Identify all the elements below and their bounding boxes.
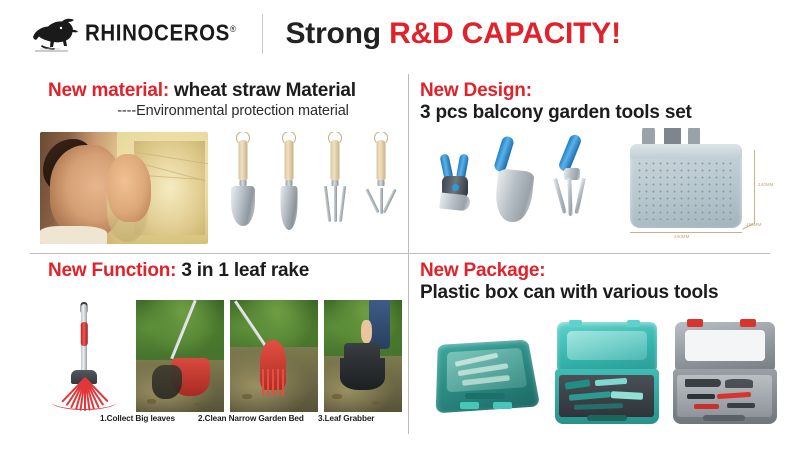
case-lid-inner	[567, 331, 647, 359]
cultivator-prong	[574, 178, 585, 214]
panel-subheading-new-package: Plastic box can with various tools	[420, 282, 780, 303]
cultivator-prong	[365, 189, 379, 214]
brand-logo: RHINOCEROS®	[30, 14, 236, 54]
tool-in-tray	[595, 378, 628, 386]
header-divider	[262, 14, 263, 54]
rake-arc	[51, 393, 118, 410]
fallen-leaf	[292, 401, 301, 406]
trowel-handle	[493, 135, 515, 173]
dimension-line-width	[630, 232, 742, 233]
case-handle	[587, 415, 626, 422]
person-hand	[361, 320, 372, 342]
cultivator-prong	[567, 178, 572, 216]
caption-collect-big-leaves: 1.Collect Big leaves	[100, 414, 175, 423]
dimension-label-depth: 160MM	[746, 222, 762, 227]
fork-tine	[334, 186, 337, 222]
case-lid-panel	[685, 330, 765, 360]
person-shirt	[40, 226, 107, 244]
capability-slide: RHINOCEROS® Strong R&D CAPACITY! New mat…	[0, 0, 800, 450]
brand-name-text: RHINOCEROS	[85, 21, 230, 47]
case-latch	[493, 402, 512, 410]
blue-cultivator	[548, 134, 602, 232]
registered-mark: ®	[230, 24, 237, 34]
teal-closed-case	[428, 318, 544, 428]
tool-in-tray	[694, 404, 719, 409]
fallen-leaf	[332, 394, 342, 399]
tool-in-tray	[727, 403, 756, 408]
heading-dark-new-function: 3 in 1 leaf rake	[176, 260, 309, 281]
panel-heading-new-package: New Package:	[420, 260, 780, 281]
narrow-rake-tines	[262, 369, 285, 396]
case-latch	[687, 319, 703, 327]
dimension-label-width: 240MM	[674, 234, 690, 239]
dimension-label-height: 240MM	[758, 182, 774, 187]
case-tool-tray	[559, 375, 654, 417]
basket-perforations	[636, 160, 736, 220]
panel-subheading-new-design: 3 pcs balcony garden tools set	[420, 102, 780, 123]
fork-tine	[339, 186, 346, 222]
tool-trowel	[226, 140, 260, 236]
panel-subheading-new-material: ----Environmental protection material	[64, 103, 402, 119]
rake-pole-red-section	[81, 322, 88, 346]
basket-rim	[630, 144, 742, 159]
blue-trowel	[490, 136, 540, 232]
wheat-field-photo	[40, 132, 208, 244]
case-latch	[460, 402, 479, 410]
person-hand	[107, 154, 151, 221]
fallen-leaf	[194, 403, 202, 407]
tool-in-tray	[574, 403, 624, 410]
metal-ferrule	[378, 180, 385, 186]
function-captions: 1.Collect Big leaves 2.Clean Narrow Gard…	[30, 414, 402, 430]
heading-red-new-package: New Package:	[420, 260, 545, 281]
rake-fan-head	[46, 378, 122, 412]
fallen-leaf	[242, 394, 252, 399]
tool-transplanter	[272, 140, 306, 236]
leaf-pile	[152, 365, 182, 399]
dimension-line-height	[754, 150, 755, 224]
panel-heading-new-material: New material: wheat straw Material	[48, 80, 402, 101]
pruner-blade	[439, 192, 471, 211]
heading-dark-new-design: 3 pcs balcony garden tools set	[420, 102, 692, 123]
teal-open-case	[550, 318, 666, 428]
leaf-grabber-jaws	[340, 358, 385, 389]
transplanter-blade	[281, 186, 298, 230]
case-lid	[557, 322, 657, 373]
vertical-divider	[408, 74, 409, 434]
tool-in-tray	[565, 379, 590, 389]
panel-heading-new-design: New Design:	[420, 80, 780, 101]
rake-collect-photo	[136, 300, 224, 412]
pruner-bolt	[452, 184, 459, 191]
title-part-rd: R&D CAPACITY!	[389, 17, 621, 50]
case-latch	[569, 320, 583, 327]
straw-handle	[239, 140, 248, 180]
case-lid	[675, 322, 775, 373]
tool-in-tray	[725, 379, 754, 388]
case-handle	[465, 393, 504, 400]
title-part-strong: Strong	[285, 17, 389, 50]
fallen-leaf	[147, 399, 156, 404]
tool-in-tray	[687, 394, 716, 400]
tool-in-tray	[610, 391, 643, 399]
straw-handle	[285, 140, 294, 180]
heading-red-new-design: New Design:	[420, 80, 532, 101]
caption-clean-narrow-garden-bed: 2.Clean Narrow Garden Bed	[198, 414, 304, 423]
tool-in-tray	[569, 391, 611, 400]
horizontal-divider	[30, 253, 770, 254]
red-fan-rake-product	[38, 300, 130, 412]
tool-fork	[318, 140, 352, 236]
tool-in-tray	[685, 379, 721, 387]
heading-red-new-material: New material:	[48, 80, 169, 101]
blue-pruner	[438, 154, 480, 230]
rake-narrow-photo	[230, 300, 318, 412]
person-legs	[369, 300, 389, 349]
case-handle	[703, 415, 745, 422]
case-lid	[436, 339, 541, 413]
trowel-blade	[231, 186, 255, 226]
fallen-leaf	[372, 401, 380, 405]
straw-handle	[377, 140, 386, 180]
heading-dark-new-package: Plastic box can with various tools	[420, 282, 718, 303]
straw-handle	[331, 140, 340, 180]
gray-open-case	[668, 318, 784, 428]
fork-tine	[324, 186, 331, 222]
tool-cultivator	[364, 140, 398, 236]
leaf-grabber-photo	[324, 300, 402, 412]
cultivator-handle	[557, 133, 582, 173]
panel-heading-new-function: New Function: 3 in 1 leaf rake	[48, 260, 402, 281]
slide-title: Strong R&D CAPACITY!	[285, 17, 620, 51]
heading-red-new-function: New Function:	[48, 260, 176, 281]
wheat-straw-tools-photo	[216, 132, 402, 244]
cultivator-prong	[382, 189, 396, 214]
heading-dark-new-material: wheat straw Material	[169, 80, 356, 101]
tool-in-tray	[717, 392, 752, 399]
slide-header: RHINOCEROS® Strong R&D CAPACITY!	[0, 0, 800, 68]
case-latch	[740, 319, 756, 327]
cultivator-prong	[553, 178, 567, 214]
rhinoceros-logo-icon	[30, 14, 82, 54]
balcony-tool-set-photo: 240MM 240MM 160MM	[424, 128, 776, 252]
case-latch	[627, 320, 641, 327]
case-tool-tray	[677, 375, 772, 417]
brand-name: RHINOCEROS®	[85, 21, 236, 48]
storage-basket	[630, 144, 742, 228]
caption-leaf-grabber: 3.Leaf Grabber	[318, 414, 374, 423]
trowel-blade	[493, 168, 534, 223]
